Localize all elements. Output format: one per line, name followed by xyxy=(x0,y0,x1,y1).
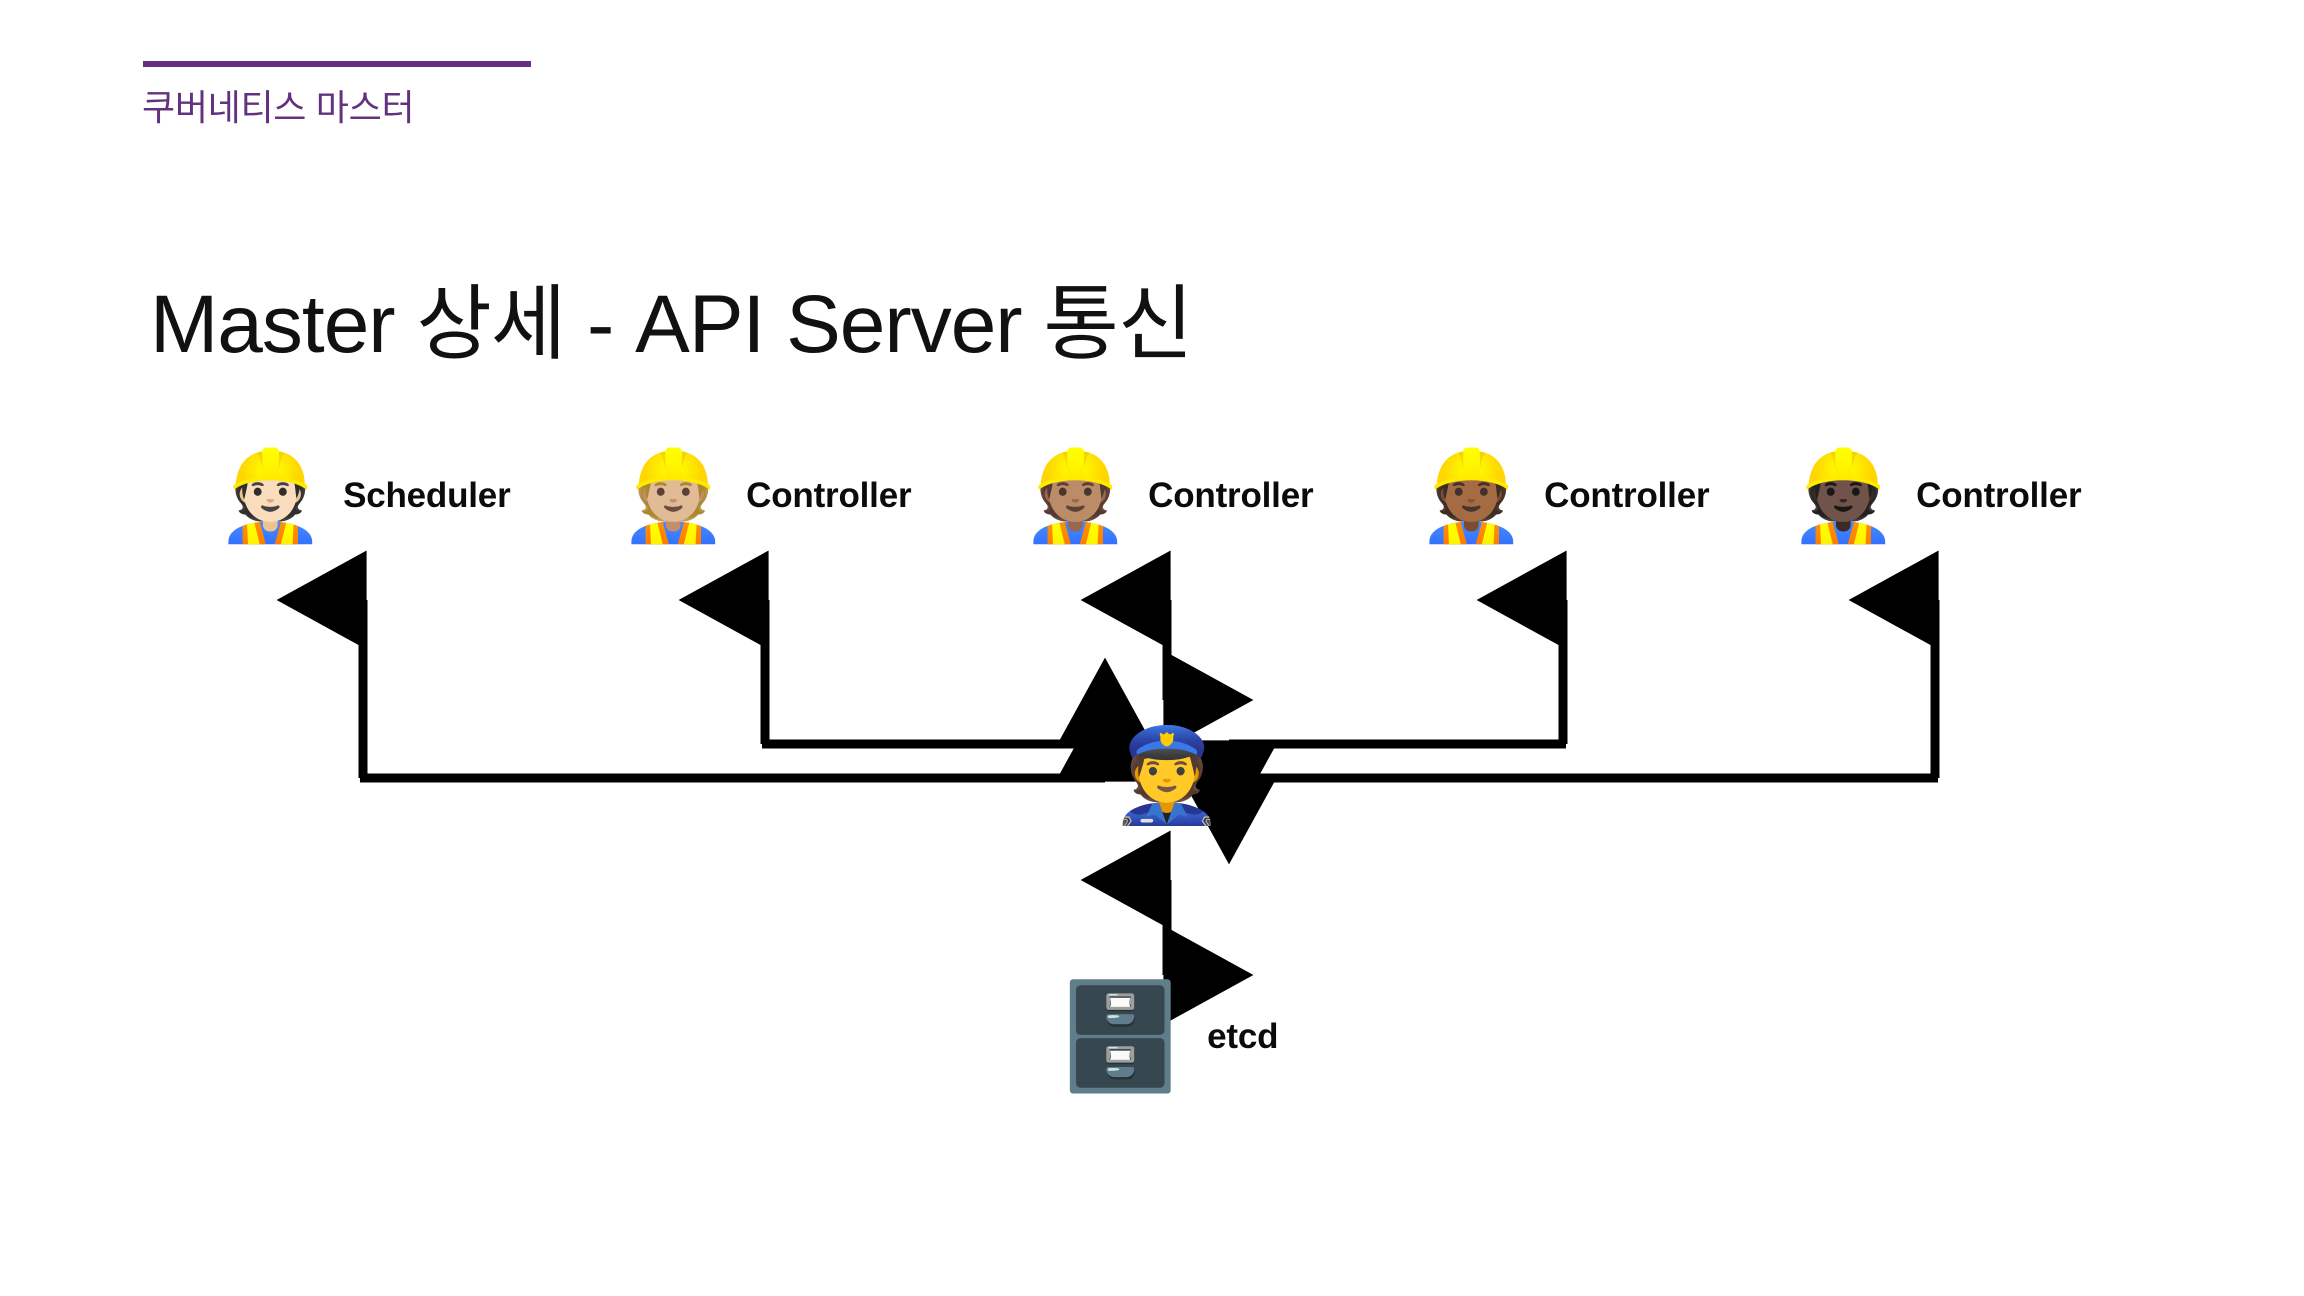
node-controller-3[interactable]: 👷🏽 Controller xyxy=(1021,452,1314,540)
node-etcd[interactable]: 🗄️ etcd xyxy=(1056,985,1279,1089)
slide-canvas: 쿠버네티스 마스터 Master 상세 - API Server 통신 xyxy=(0,0,2304,1296)
connector-wires xyxy=(0,0,2304,1296)
file-cabinet-icon: 🗄️ xyxy=(1056,985,1186,1089)
construction-worker-icon: 👷🏽 xyxy=(1021,452,1131,540)
node-controller-4[interactable]: 👷🏾 Controller xyxy=(1417,452,1710,540)
node-api-server[interactable]: 👮 xyxy=(1110,730,1225,822)
architecture-diagram: 👷🏻 Scheduler 👷🏼 Controller 👷🏽 Controller… xyxy=(0,0,2304,1296)
construction-worker-icon: 👷🏼 xyxy=(619,452,729,540)
node-label-controller-5: Controller xyxy=(1916,476,2081,516)
construction-worker-icon: 👷🏾 xyxy=(1417,452,1527,540)
node-scheduler[interactable]: 👷🏻 Scheduler xyxy=(215,452,510,540)
node-controller-2[interactable]: 👷🏼 Controller xyxy=(619,452,912,540)
node-label-scheduler: Scheduler xyxy=(343,476,510,516)
construction-worker-icon: 👷🏿 xyxy=(1789,452,1899,540)
node-label-etcd: etcd xyxy=(1207,1017,1278,1057)
node-label-controller-4: Controller xyxy=(1544,476,1709,516)
construction-worker-icon: 👷🏻 xyxy=(215,452,325,540)
node-label-controller-3: Controller xyxy=(1148,476,1313,516)
node-controller-5[interactable]: 👷🏿 Controller xyxy=(1789,452,2082,540)
police-officer-icon: 👮 xyxy=(1110,730,1225,822)
node-label-controller-2: Controller xyxy=(746,476,911,516)
